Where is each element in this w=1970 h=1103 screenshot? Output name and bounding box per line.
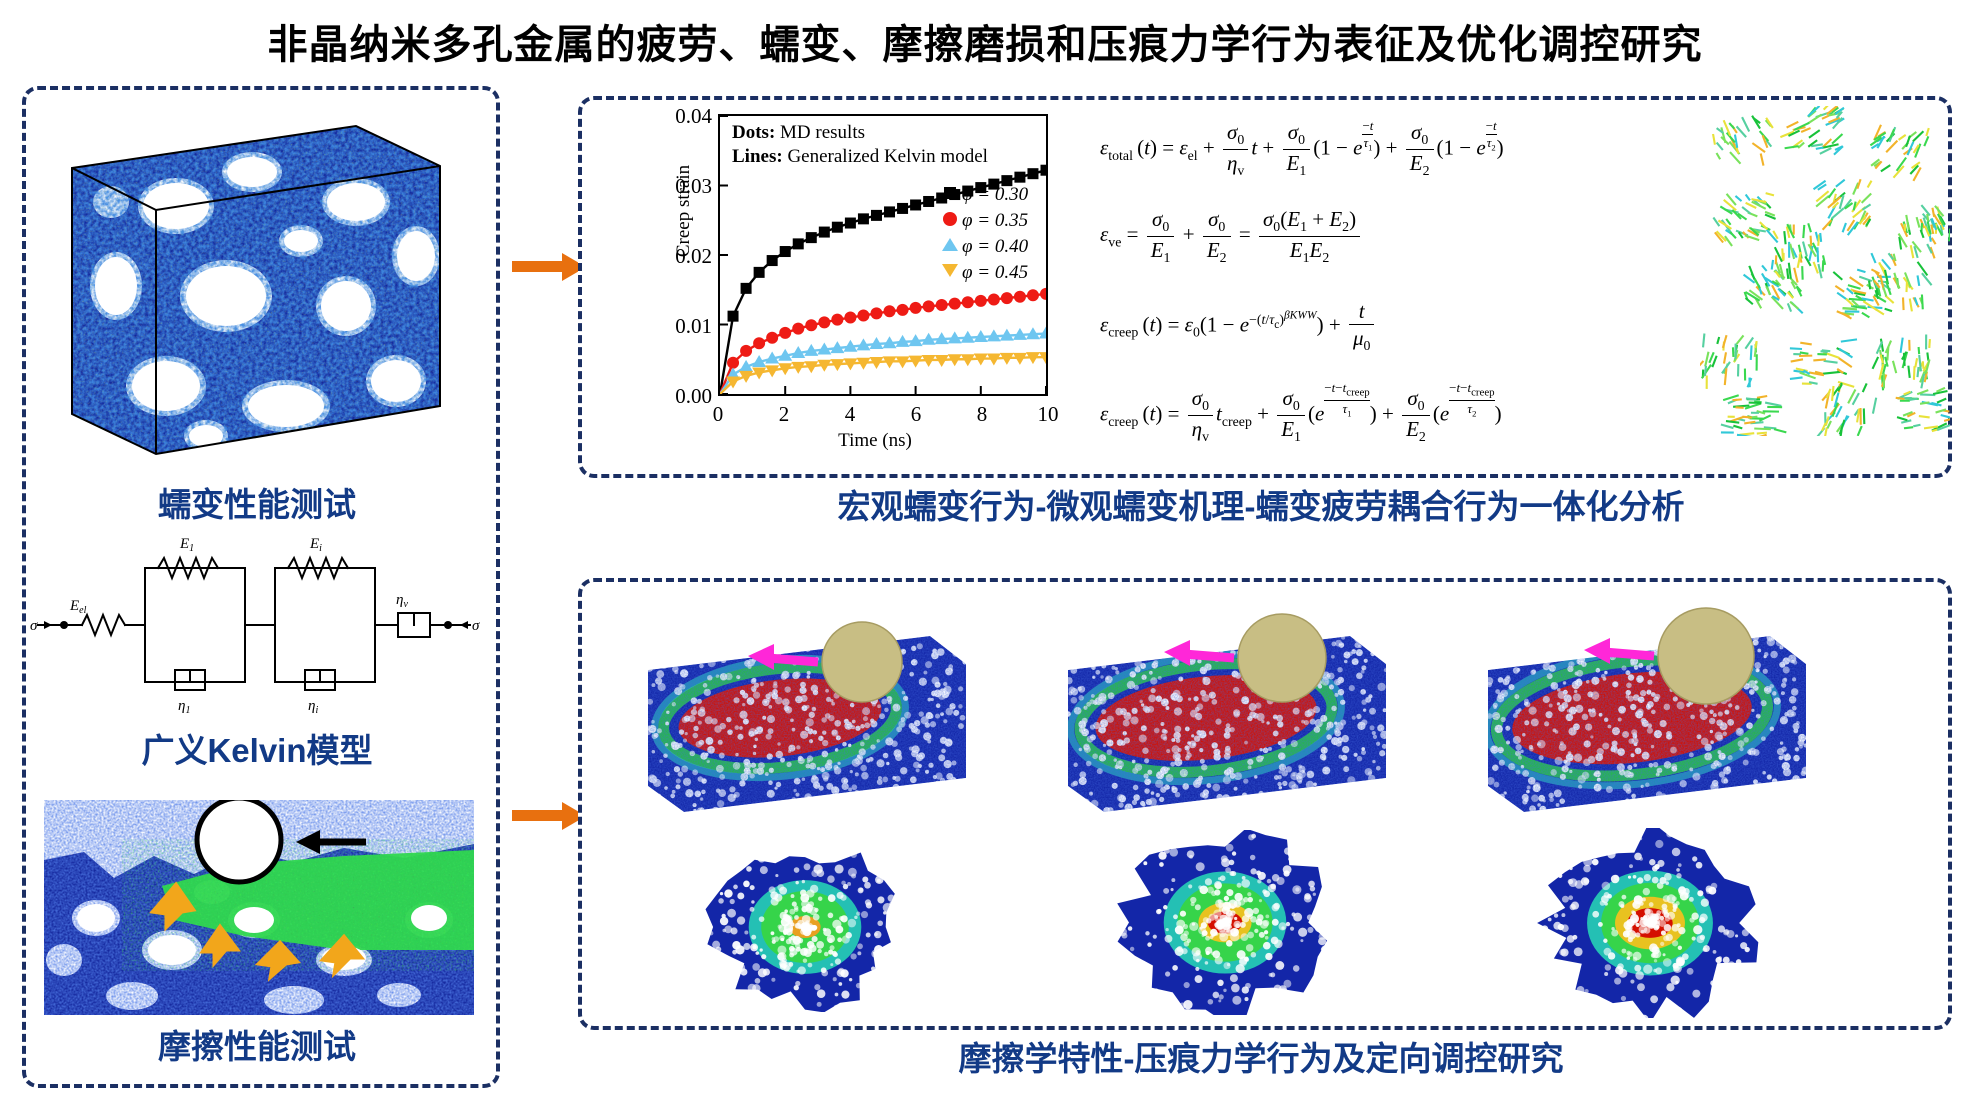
legend-marker-triangle-down-icon: [938, 264, 962, 282]
shear-band-strands-image: [1700, 106, 1950, 436]
y-tick-3: 0.03: [652, 174, 712, 199]
x-tick-5: 10: [1028, 402, 1068, 427]
svg-text:σ: σ: [472, 618, 480, 634]
wear-block-image-3: [1470, 600, 1822, 830]
wear-scar-image-3: [1490, 828, 1810, 1018]
legend-item-1: φ = 0.35: [938, 208, 1054, 234]
equation-creep-recovery: εcreep (t) = σ0ηvtcreep + σ0E1(e−t−tcree…: [1100, 380, 1502, 446]
friction-test-image: [44, 800, 474, 1015]
svg-text:Eel: Eel: [69, 598, 87, 616]
equation-creep-kww: εcreep (t) = ε0(1 − e−(t/τc)βKWW) + tμ0: [1100, 298, 1377, 355]
generalized-kelvin-circuit-diagram: Eel E1 Ei ηv η1 ηi σ σ: [30, 530, 485, 720]
legend-marker-circle-icon: [938, 212, 962, 231]
equation-total-strain: εtotal (t) = εel + σ0ηvt + σ0E1(1 − e−tτ…: [1100, 118, 1504, 180]
legend-marker-triangle-up-icon: [938, 238, 962, 256]
chart-x-axis-label: Time (ns): [710, 430, 1040, 452]
legend-item-3: φ = 0.45: [938, 260, 1054, 286]
x-tick-3: 6: [896, 402, 936, 427]
y-tick-1: 0.01: [652, 314, 712, 339]
legend-item-2: φ = 0.40: [938, 234, 1054, 260]
porous-metal-cube-image: [56, 106, 456, 474]
x-tick-0: 0: [698, 402, 738, 427]
equation-viscoelastic-strain: εve = σ0E1 + σ0E2 = σ0(E1 + E2)E1E2: [1100, 206, 1363, 267]
svg-text:σ: σ: [30, 618, 38, 634]
page-title: 非晶纳米多孔金属的疲劳、蠕变、摩擦磨损和压痕力学行为表征及优化调控研究: [0, 12, 1970, 70]
wear-scar-image-2: [1080, 830, 1370, 1015]
chart-note-dots: Dots: MD results: [732, 122, 865, 144]
caption-creep-test: 蠕变性能测试: [22, 478, 492, 526]
legend-label-3: φ = 0.45: [962, 262, 1028, 284]
creep-strain-chart: Creep strain Time (ns) 0.00 0.01 0.02 0.…: [640, 104, 1080, 456]
y-tick-4: 0.04: [652, 104, 712, 129]
legend-label-2: φ = 0.40: [962, 236, 1028, 258]
wear-block-image-2: [1050, 600, 1402, 830]
x-tick-2: 4: [830, 402, 870, 427]
caption-tribology: 摩擦学特性-压痕力学行为及定向调控研究: [578, 1032, 1944, 1080]
chart-note-lines: Lines: Generalized Kelvin model: [732, 146, 988, 168]
svg-text:Ei: Ei: [309, 536, 322, 554]
svg-text:ηv: ηv: [396, 592, 408, 610]
chart-note-lines-bold: Lines:: [732, 146, 783, 167]
caption-friction-test: 摩擦性能测试: [22, 1020, 492, 1068]
legend-label-0: φ = 0.30: [962, 184, 1028, 206]
legend-marker-square-icon: [938, 186, 962, 204]
arrow-left-to-creep-panel: [512, 253, 588, 281]
equations-block: εtotal (t) = εel + σ0ηvt + σ0E1(1 − e−tτ…: [1100, 108, 1700, 448]
chart-note-dots-bold: Dots:: [732, 122, 775, 143]
chart-note-lines-text: Generalized Kelvin model: [783, 146, 988, 167]
wear-scar-image-1: [690, 842, 920, 1012]
chart-legend: φ = 0.30 φ = 0.35 φ = 0.40 φ = 0.45: [938, 182, 1054, 286]
svg-text:E1: E1: [179, 536, 194, 554]
legend-label-1: φ = 0.35: [962, 210, 1028, 232]
x-tick-1: 2: [764, 402, 804, 427]
caption-macro-creep: 宏观蠕变行为-微观蠕变机理-蠕变疲劳耦合行为一体化分析: [578, 480, 1944, 528]
legend-item-0: φ = 0.30: [938, 182, 1054, 208]
svg-text:ηi: ηi: [308, 698, 318, 716]
y-tick-2: 0.02: [652, 244, 712, 269]
caption-kelvin-model: 广义Kelvin模型: [22, 724, 492, 772]
wear-block-image-1: [630, 600, 982, 830]
chart-note-dots-text: MD results: [775, 122, 865, 143]
arrow-left-to-wear-panel: [512, 802, 588, 830]
svg-text:η1: η1: [178, 698, 190, 716]
x-tick-4: 8: [962, 402, 1002, 427]
